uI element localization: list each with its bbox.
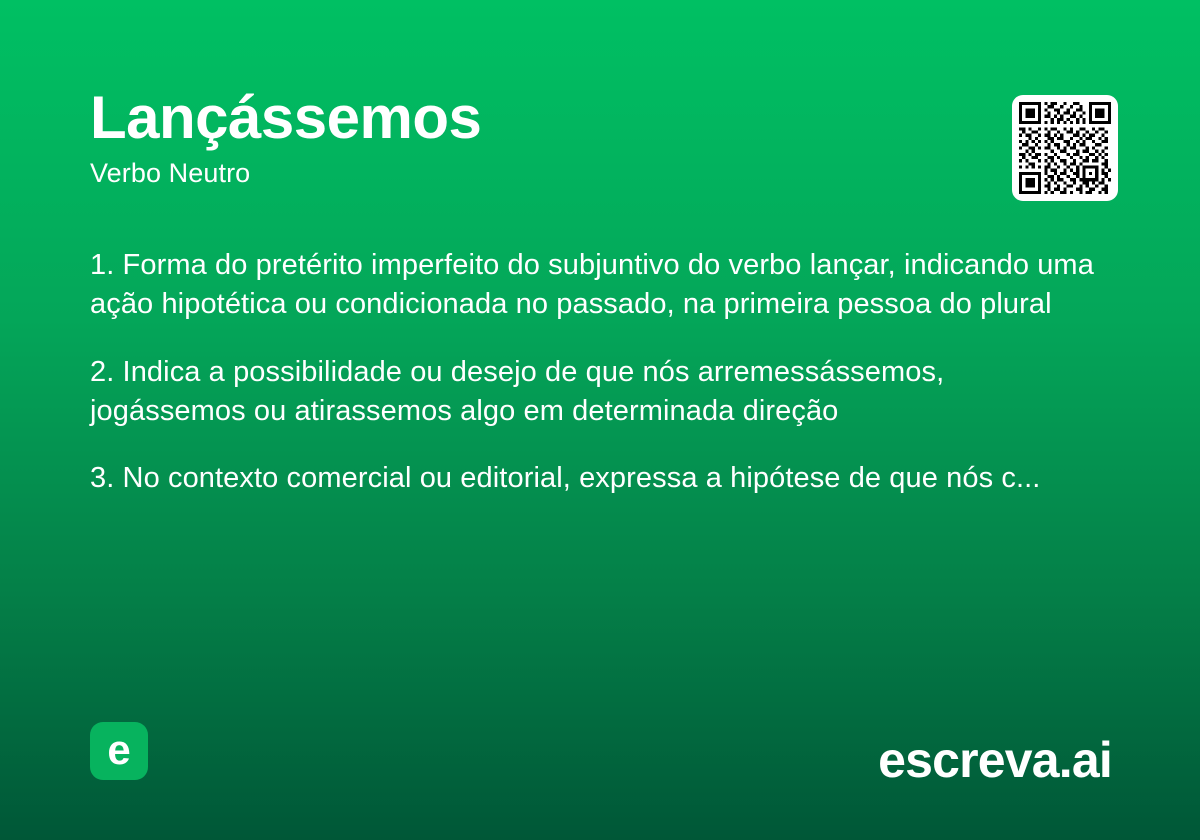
qr-code-panel[interactable] [1012, 95, 1118, 201]
definition-item: 1. Forma do pretérito imperfeito do subj… [90, 246, 1108, 324]
brand-wordmark: escreva.ai [878, 735, 1112, 785]
word-class-label: Verbo Neutro [90, 157, 970, 189]
page-title: Lançássemos [90, 86, 970, 151]
definition-item: 3. No contexto comercial ou editorial, e… [90, 459, 1108, 498]
brand-logo-letter: e [107, 729, 130, 771]
brand-logo-icon: e [90, 722, 148, 780]
card-header: Lançássemos Verbo Neutro [90, 86, 970, 189]
card-footer: e escreva.ai [0, 680, 1200, 840]
definition-card: Lançássemos Verbo Neutro [0, 0, 1200, 840]
definition-item: 2. Indica a possibilidade ou desejo de q… [90, 353, 1108, 431]
qr-code-icon [1019, 102, 1111, 194]
definition-list: 1. Forma do pretérito imperfeito do subj… [90, 246, 1108, 498]
